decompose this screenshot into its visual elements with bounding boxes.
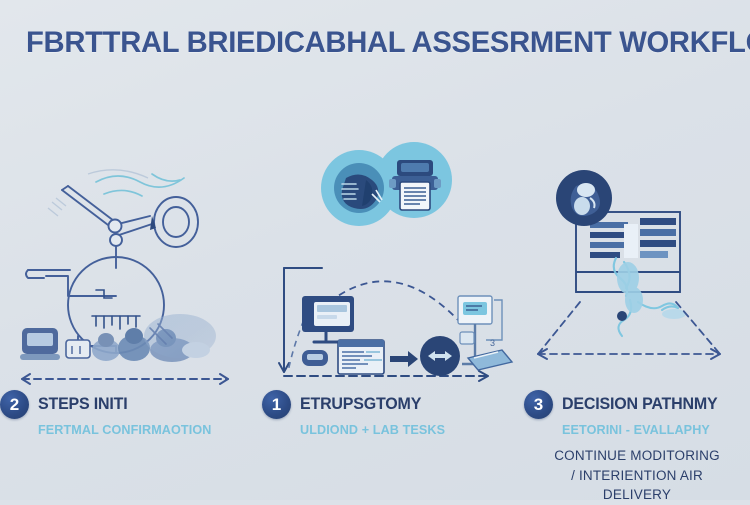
step-subtitle-1: FERTMAL CONFIRMAOTION — [38, 422, 251, 437]
step-caption-2: 1 ETRUPSGTOMY ULDIOND + LAB TESKS — [262, 390, 520, 437]
step-body-3: CONTINUE MODITORING / INTERIENTION AIR D… — [524, 446, 750, 505]
step-caption-1: 2 STEPS INITI FERTMAL CONFIRMAOTION — [0, 390, 258, 437]
step-column-3: 3 DECISION PATHNMY EETORINI - EVALLAPHY … — [524, 150, 750, 500]
illustration-decision-panel — [524, 150, 750, 390]
step-header-1: 2 STEPS INITI — [0, 390, 258, 419]
step-title-1: STEPS INITI — [38, 395, 127, 414]
step-body-line-2: / INTERIENTION AIR — [524, 466, 750, 486]
step-subtitle-2: ULDIOND + LAB TESKS — [300, 422, 513, 437]
step-caption-3: 3 DECISION PATHNMY EETORINI - EVALLAPHY … — [524, 390, 750, 505]
illustration-surgical-lamp — [0, 150, 258, 390]
small-device-icon — [302, 350, 328, 366]
step-body-line-3: DELIVERY — [524, 485, 750, 505]
poster-canvas: FBRTTRAL BRIEDICABHAL ASSESRMENT WORKFLO… — [0, 0, 750, 500]
step-header-3: 3 DECISION PATHNMY — [524, 390, 750, 419]
step-body-line-1: CONTINUE MODITORING — [524, 446, 750, 466]
step-column-2: 3 1 ETRUPSGTOMY ULDIOND + LAB TESKS — [262, 150, 520, 500]
illustration-ultrasound-flow: 3 — [262, 150, 520, 390]
step-badge-1: 2 — [0, 390, 29, 419]
step-column-1: 2 STEPS INITI FERTMAL CONFIRMAOTION — [0, 150, 258, 500]
monitor-icon — [302, 296, 354, 342]
fetus-scan-icon — [556, 170, 612, 226]
decision-circle-icon — [420, 336, 460, 376]
step-title-2: ETRUPSGTOMY — [300, 395, 421, 414]
ultrasound-icon — [334, 163, 384, 213]
document-card-icon — [338, 340, 384, 374]
stand-screen-icon: 3 — [458, 296, 512, 370]
step-badge-3: 3 — [524, 390, 553, 419]
step-badge-2: 1 — [262, 390, 291, 419]
page-title: FBRTTRAL BRIEDICABHAL ASSESRMENT WORKFLO… — [26, 27, 725, 59]
step-header-2: 1 ETRUPSGTOMY — [262, 390, 520, 419]
svg-text:3: 3 — [490, 338, 495, 348]
panel-text-bars — [590, 218, 676, 258]
step-title-3: DECISION PATHNMY — [562, 395, 717, 414]
range-arrow-1 — [12, 372, 238, 386]
step-subtitle-3: EETORINI - EVALLAPHY — [562, 422, 744, 437]
flow-arrow-icon — [390, 351, 418, 367]
